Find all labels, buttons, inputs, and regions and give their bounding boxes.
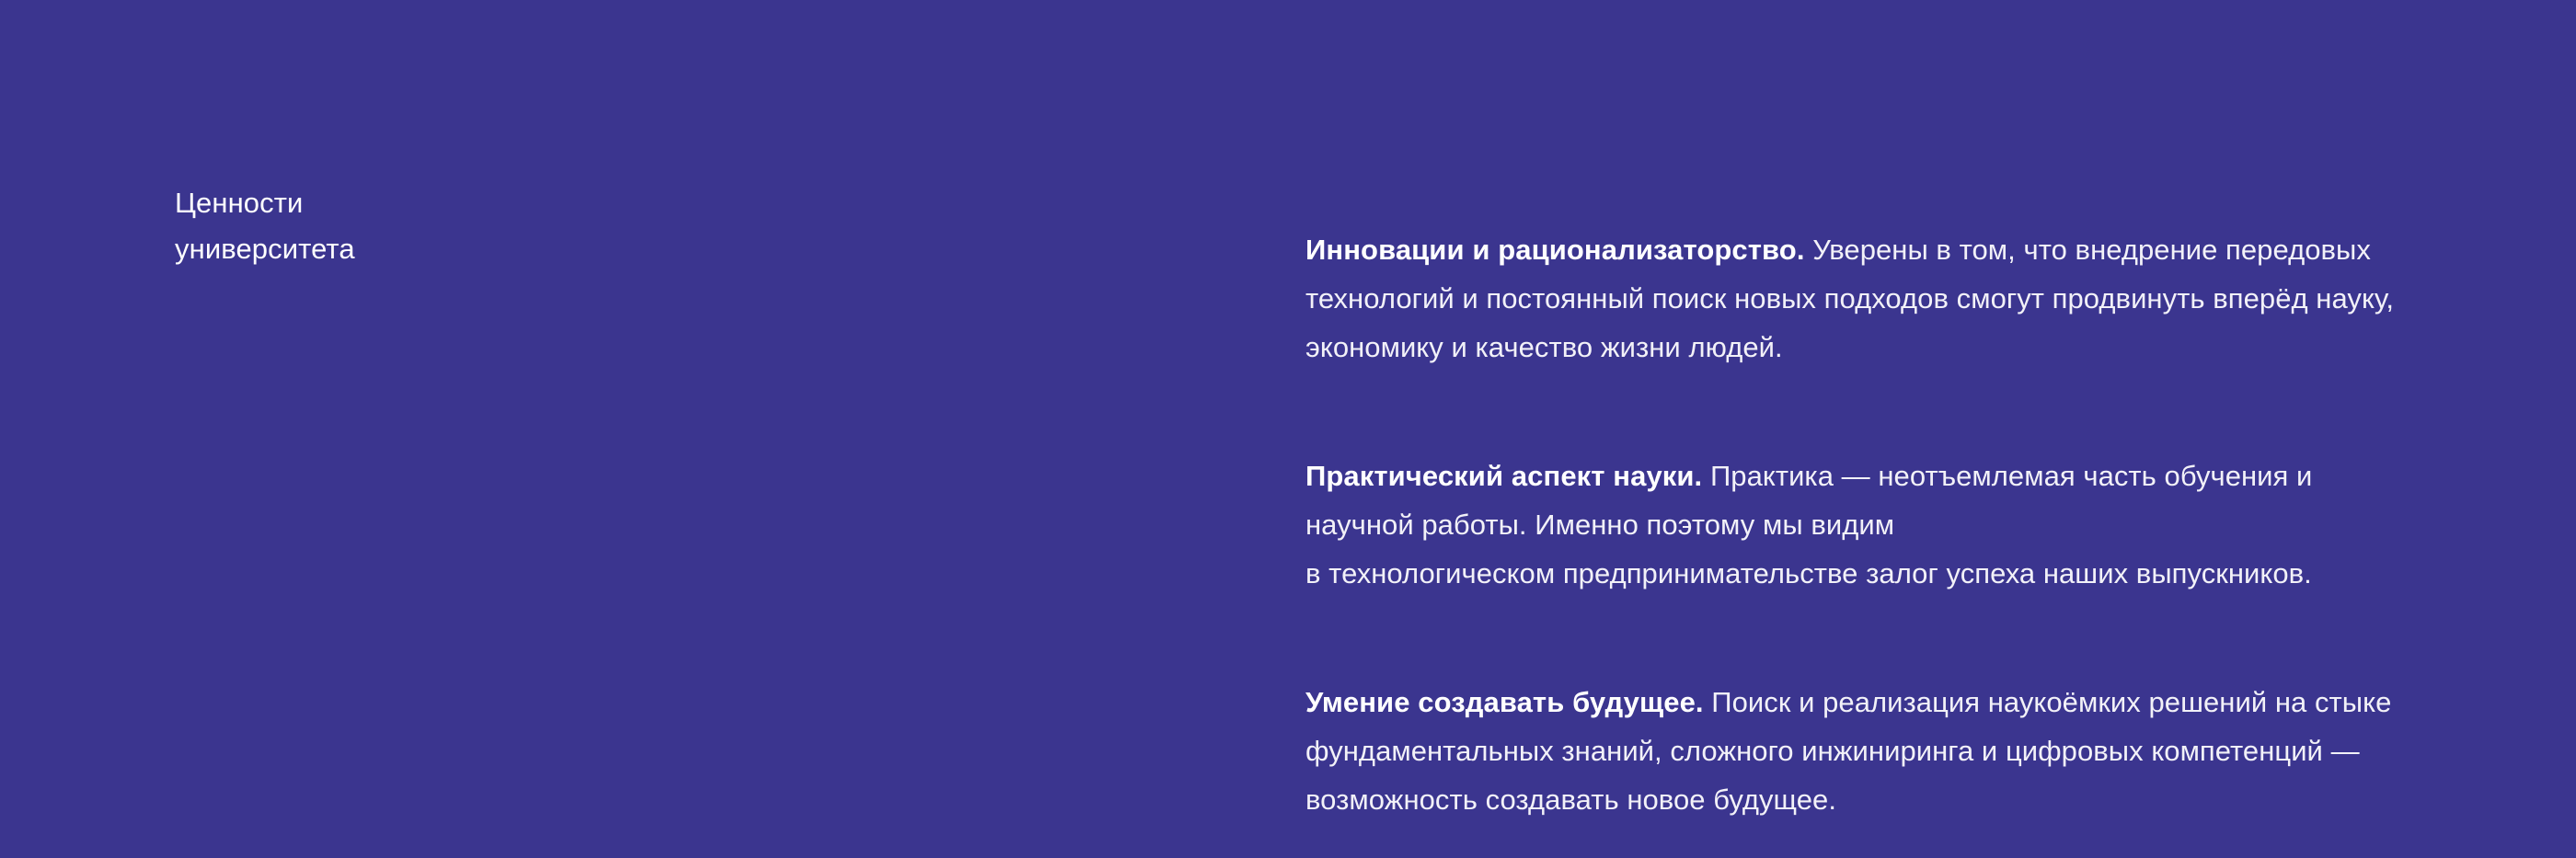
value-item-innovation-lead: Инновации и рационализаторство. (1305, 234, 1805, 266)
values-slide: Ценности университета Инновации и рацион… (0, 0, 2576, 858)
section-heading-column: Ценности университета (175, 180, 690, 272)
value-item-innovation: Инновации и рационализаторство. Уверены … (1305, 177, 2409, 372)
value-item-practice: Практический аспект науки. Практика — не… (1305, 403, 2409, 598)
value-item-practice-lead: Практический аспект науки. (1305, 460, 1702, 492)
values-list: Инновации и рационализаторство. Уверены … (1305, 177, 2409, 824)
page-title: Ценности университета (175, 180, 690, 272)
value-item-future: Умение создавать будущее. Поиск и реализ… (1305, 629, 2409, 824)
value-item-future-lead: Умение создавать будущее. (1305, 686, 1704, 718)
